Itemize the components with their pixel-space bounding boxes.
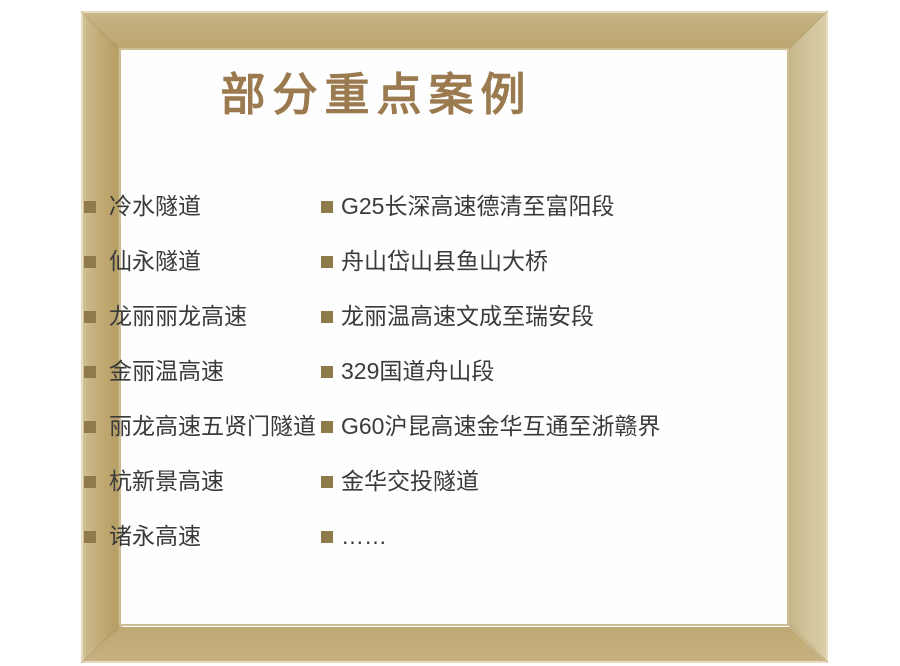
list-item[interactable]: 329国道舟山段	[321, 344, 706, 399]
square-bullet-icon	[321, 531, 333, 543]
list-item[interactable]: 金丽温高速	[84, 344, 321, 399]
list-item[interactable]: 丽龙高速五贤门隧道	[84, 399, 321, 454]
list-item[interactable]: 冷水隧道	[84, 179, 321, 234]
list-item-label: 诸永高速	[109, 525, 201, 548]
square-bullet-icon	[84, 421, 96, 433]
square-bullet-icon	[321, 366, 333, 378]
frame-band-right	[789, 11, 828, 663]
list-item[interactable]: 仙永隧道	[84, 234, 321, 289]
list-item-label: 金丽温高速	[109, 360, 224, 383]
list-item[interactable]: 诸永高速	[84, 509, 321, 564]
square-bullet-icon	[84, 311, 96, 323]
square-bullet-icon	[321, 201, 333, 213]
square-bullet-icon	[321, 311, 333, 323]
square-bullet-icon	[84, 476, 96, 488]
slide-canvas: 部分重点案例 冷水隧道 仙永隧道 龙丽丽龙高速 金丽温高速	[0, 0, 900, 666]
list-item-label: 仙永隧道	[109, 250, 201, 273]
case-list-right-column: G25长深高速德清至富阳段 舟山岱山县鱼山大桥 龙丽温高速文成至瑞安段 329国…	[321, 179, 706, 564]
list-item[interactable]: ……	[321, 509, 706, 564]
frame-content-area: 部分重点案例 冷水隧道 仙永隧道 龙丽丽龙高速 金丽温高速	[40, 39, 706, 613]
list-item-label: G60沪昆高速金华互通至浙赣界	[341, 415, 660, 438]
page-title: 部分重点案例	[40, 72, 706, 117]
list-item[interactable]: 舟山岱山县鱼山大桥	[321, 234, 706, 289]
list-item[interactable]: 龙丽温高速文成至瑞安段	[321, 289, 706, 344]
square-bullet-icon	[321, 256, 333, 268]
list-item[interactable]: 杭新景高速	[84, 454, 321, 509]
square-bullet-icon	[84, 201, 96, 213]
frame-band-bottom	[81, 627, 828, 663]
list-item[interactable]: 龙丽丽龙高速	[84, 289, 321, 344]
square-bullet-icon	[84, 256, 96, 268]
list-item[interactable]: G60沪昆高速金华互通至浙赣界	[321, 399, 706, 454]
list-item-label: 龙丽丽龙高速	[109, 305, 247, 328]
list-item[interactable]: 金华交投隧道	[321, 454, 706, 509]
list-item-label: 舟山岱山县鱼山大桥	[341, 250, 548, 273]
list-item-label: 金华交投隧道	[341, 470, 479, 493]
case-list-left-column: 冷水隧道 仙永隧道 龙丽丽龙高速 金丽温高速 丽龙高速五贤门隧道	[40, 179, 321, 564]
list-item-label: 329国道舟山段	[341, 360, 494, 383]
list-item-label: 龙丽温高速文成至瑞安段	[341, 305, 594, 328]
case-list: 冷水隧道 仙永隧道 龙丽丽龙高速 金丽温高速 丽龙高速五贤门隧道	[40, 179, 706, 564]
list-item-label: ……	[341, 525, 387, 548]
square-bullet-icon	[84, 366, 96, 378]
list-item-label: 杭新景高速	[109, 470, 224, 493]
square-bullet-icon	[84, 531, 96, 543]
list-item-label: G25长深高速德清至富阳段	[341, 195, 614, 218]
list-item-label: 丽龙高速五贤门隧道	[109, 415, 316, 438]
square-bullet-icon	[321, 421, 333, 433]
list-item[interactable]: G25长深高速德清至富阳段	[321, 179, 706, 234]
square-bullet-icon	[321, 476, 333, 488]
list-item-label: 冷水隧道	[109, 195, 201, 218]
